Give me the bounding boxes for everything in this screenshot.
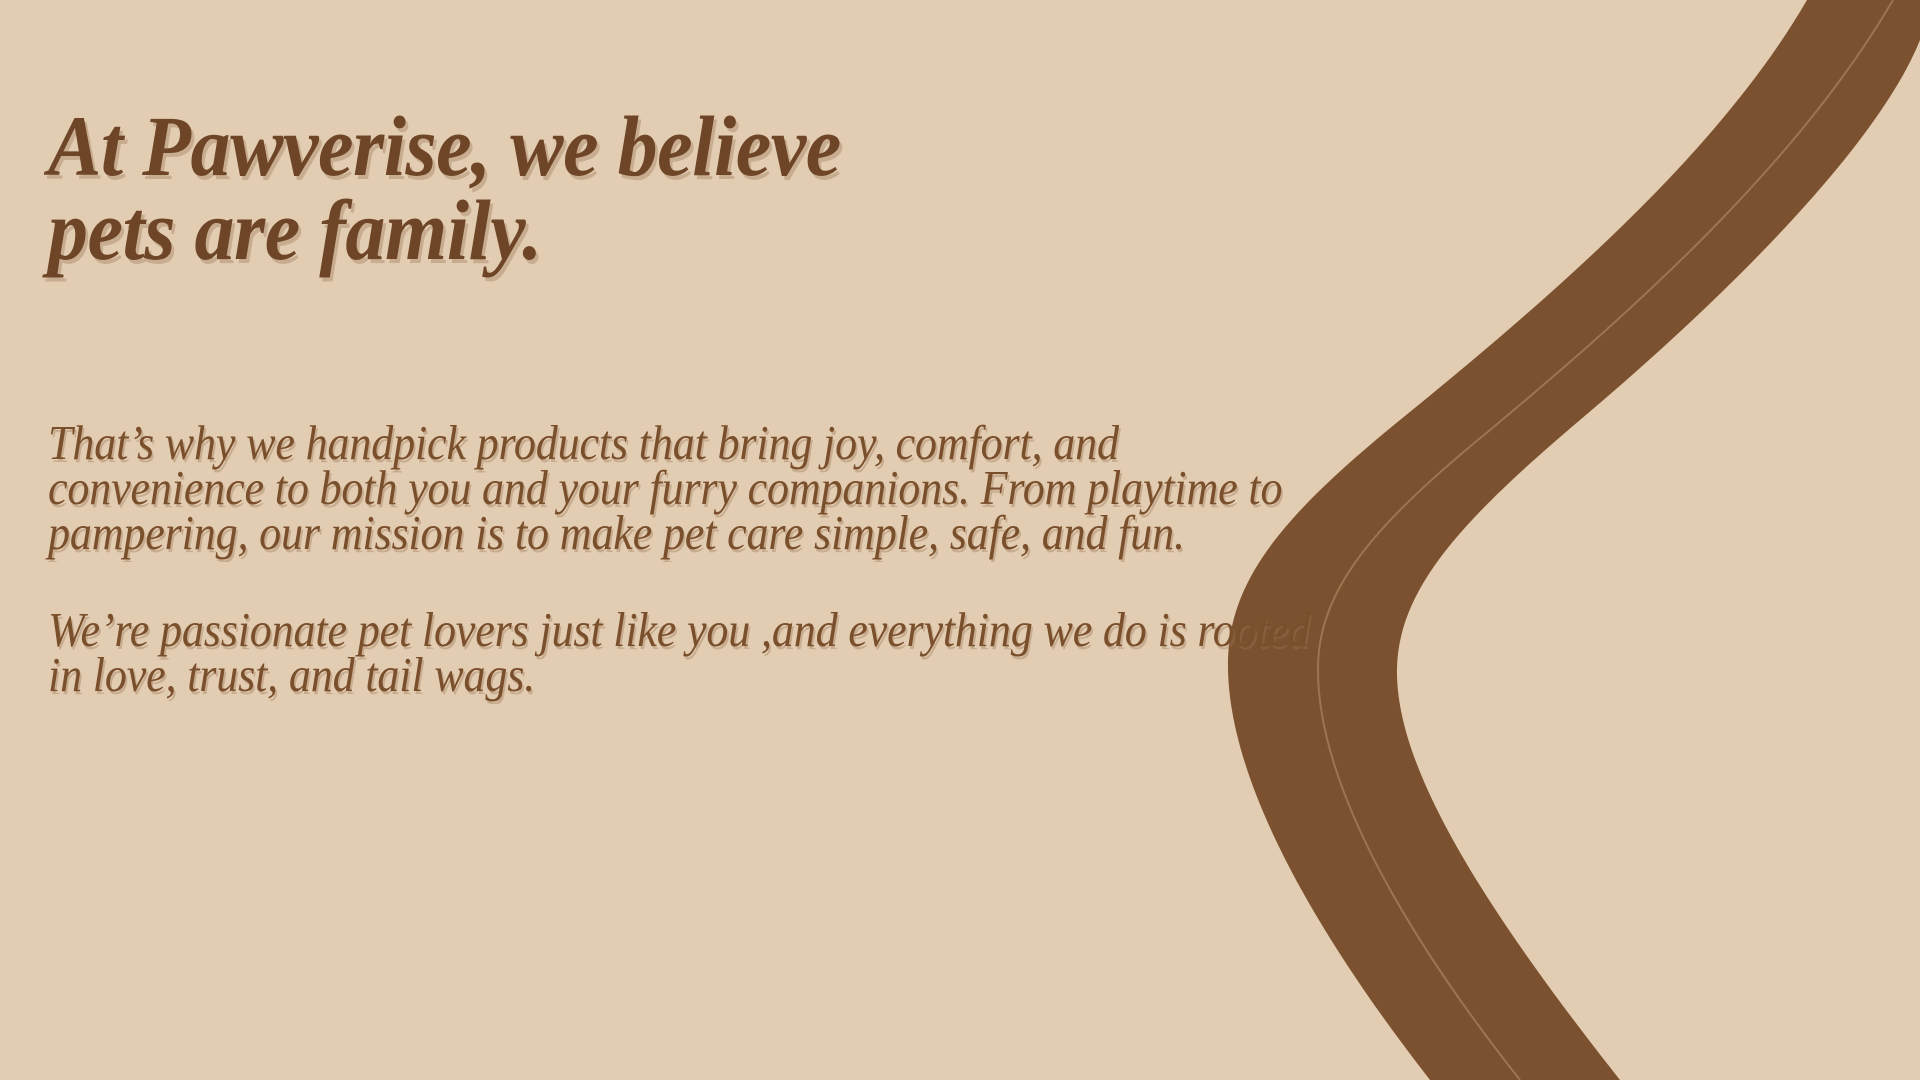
body-copy: That’s why we handpick products that bri… (48, 420, 1468, 697)
slide-canvas: At Pawverise, we believe pets are family… (0, 0, 1920, 1080)
text-column: At Pawverise, we believe pets are family… (48, 0, 1388, 1080)
paragraph-mission: That’s why we handpick products that bri… (48, 420, 1326, 555)
paragraph-values: We’re passionate pet lovers just like yo… (48, 607, 1326, 697)
page-title: At Pawverise, we believe pets are family… (48, 104, 1164, 273)
